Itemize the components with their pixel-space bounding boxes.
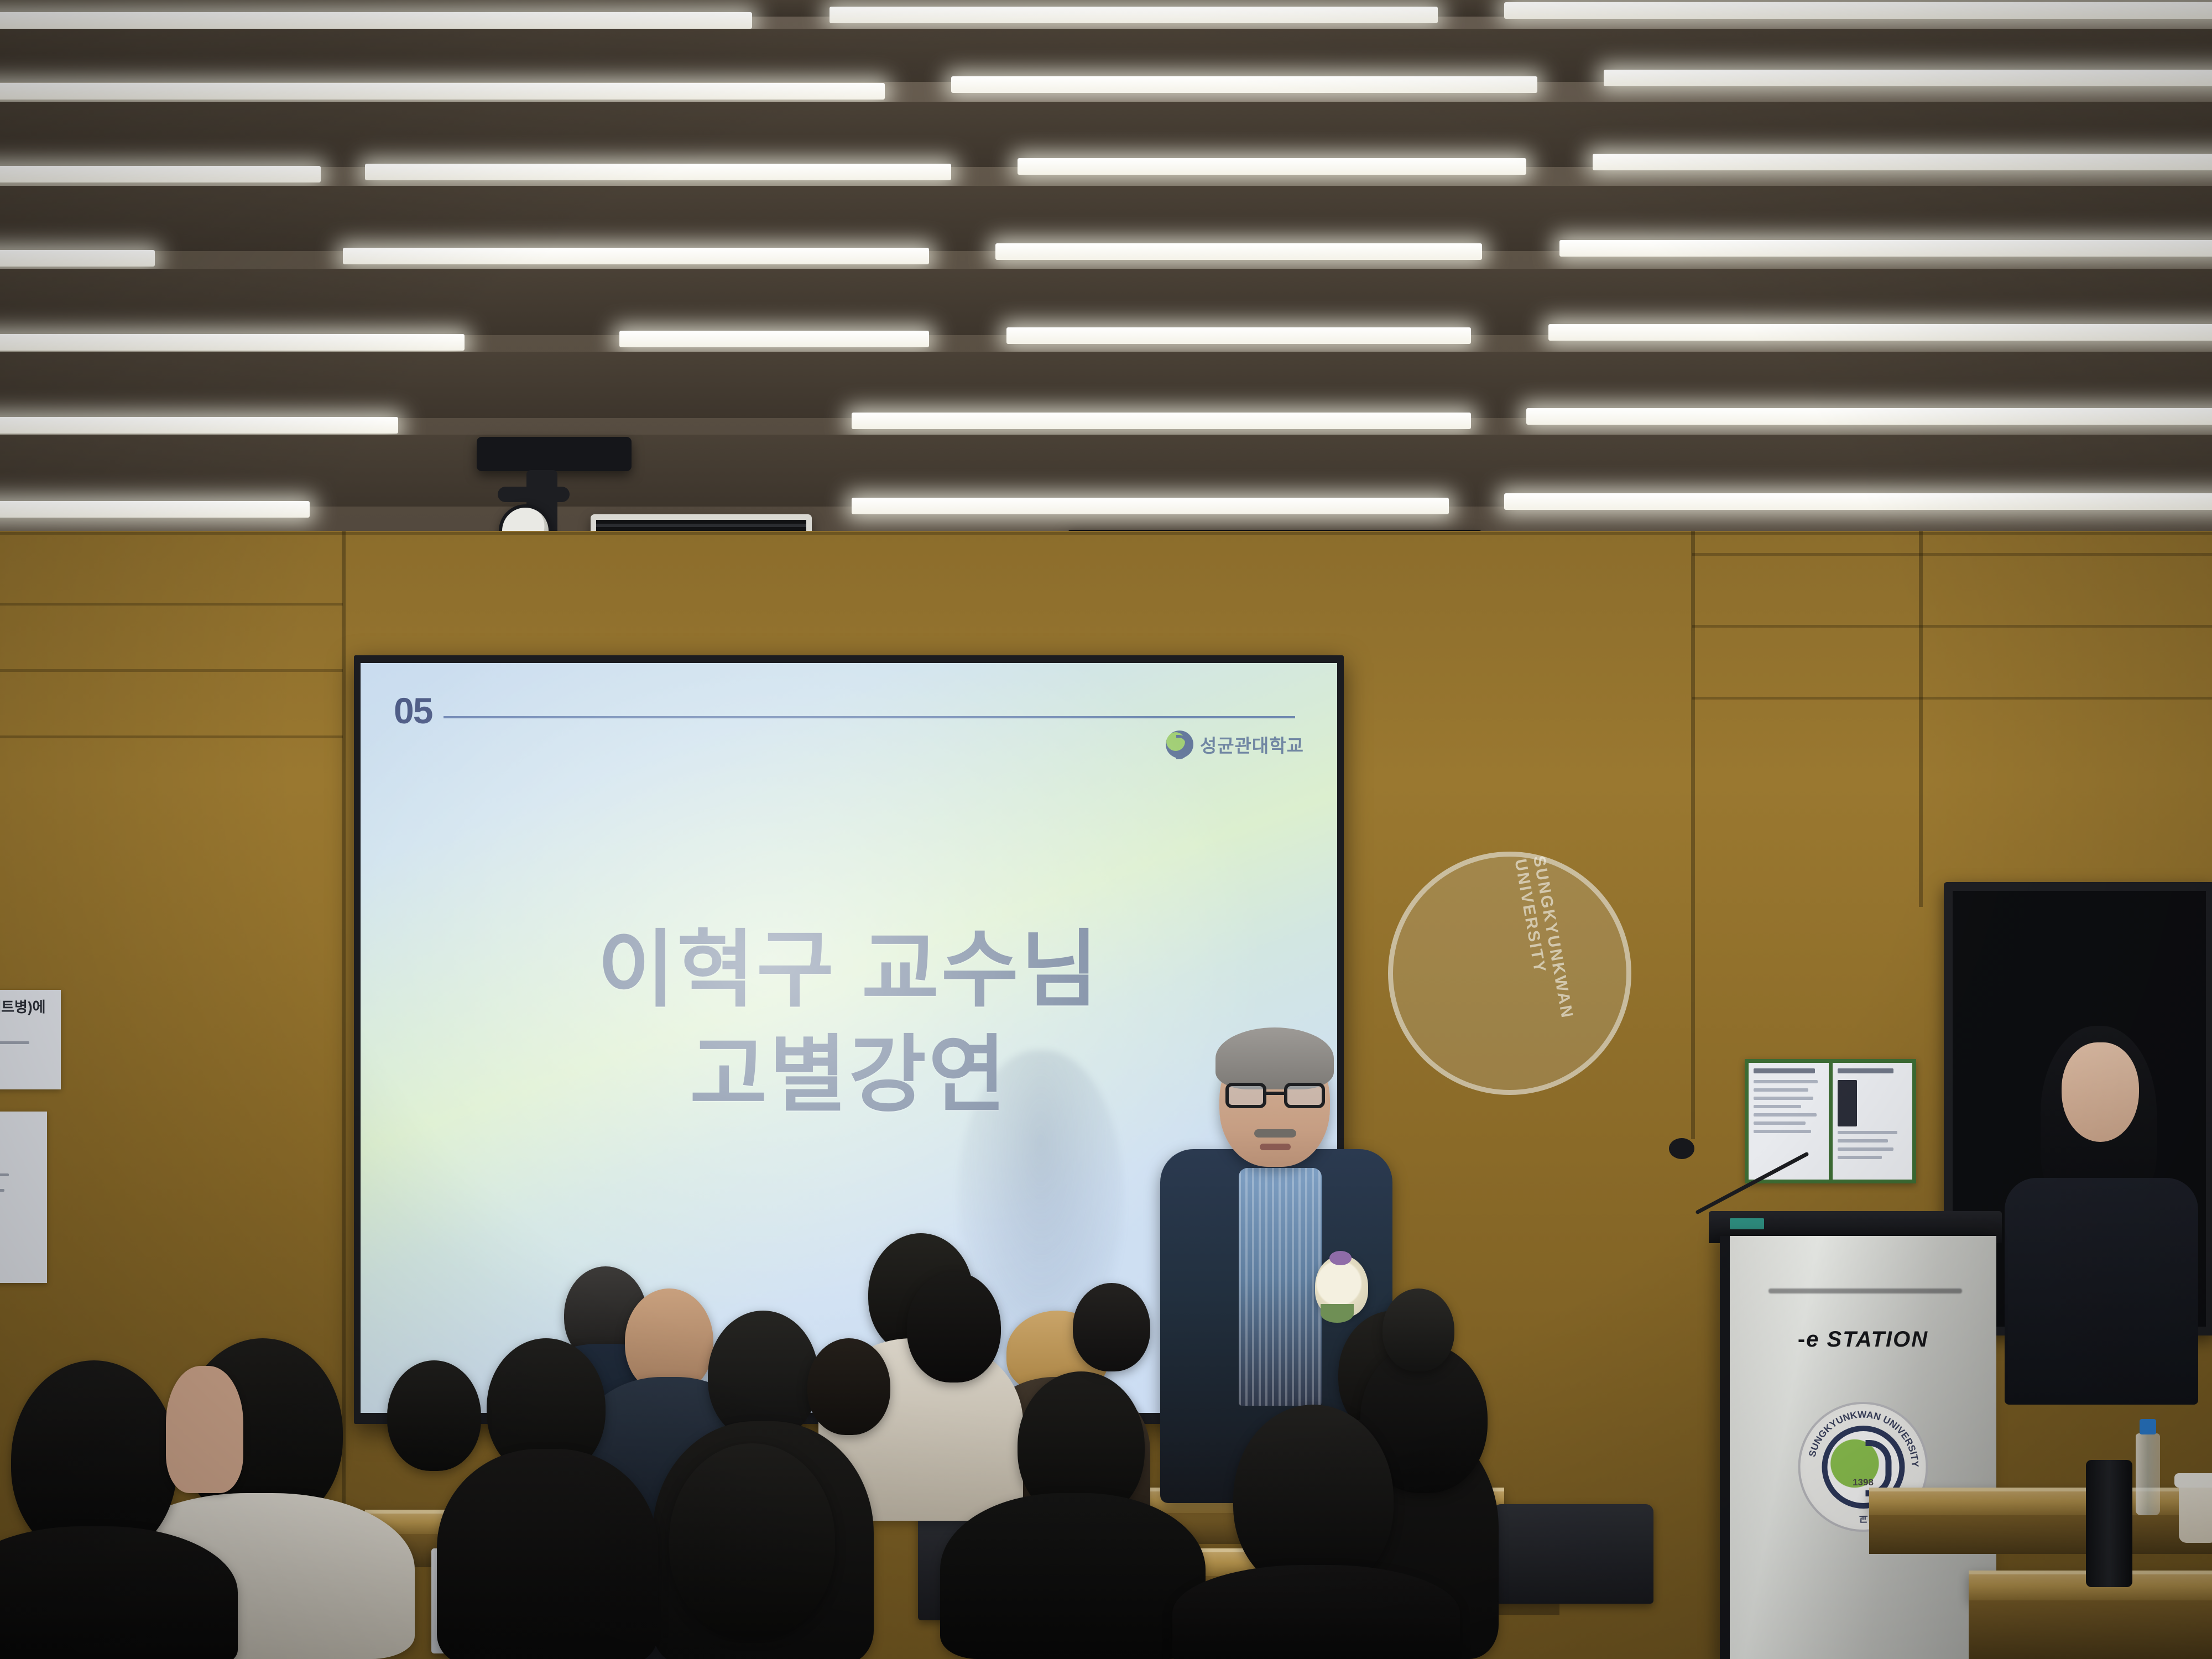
ceiling-light-strip: [0, 334, 465, 351]
notice-left-bottom-title: 강의실 안내: [0, 1125, 40, 1139]
lecture-hall-photo: SUNGKYUNKWAN UNIVERSITY 05 성균관대학교 이혁구 교수…: [0, 0, 2212, 1659]
slide-logo-label: 성균관대학교: [1200, 731, 1304, 758]
notice-left-top: 종이컵, 페트병)에 지합니다.: [0, 990, 61, 1089]
ceiling-light-strip: [1504, 2, 2212, 19]
ceiling-light-strip: [0, 250, 155, 267]
ceiling-light-strip: [1006, 327, 1471, 344]
ceiling-light-strip: [1593, 154, 2212, 170]
presenter-mouth: [1260, 1144, 1291, 1150]
lecture-desk-front: [1969, 1600, 2212, 1659]
audience-body: [940, 1493, 1206, 1659]
black-tumbler: [2086, 1460, 2132, 1587]
ceiling-light-strip: [951, 76, 1537, 93]
wall-university-seal: [1388, 852, 1631, 1095]
ceiling: [0, 0, 2212, 553]
poster-right-image: [1838, 1080, 1857, 1126]
ceiling-light-strip: [619, 331, 929, 347]
staff-face: [2062, 1042, 2139, 1142]
audience-body: [1172, 1565, 1460, 1659]
ceiling-light-strip: [1018, 158, 1526, 175]
audience-head: [1383, 1288, 1454, 1371]
sungkyunkwan-emblem-icon: [1166, 731, 1193, 758]
projector-mount-yoke: [498, 487, 570, 502]
audience-head: [1233, 1405, 1394, 1593]
slide-title: 이혁구 교수님 고별강연: [361, 923, 1337, 1122]
ceiling-light-strip: [0, 83, 885, 100]
lectern-podium[interactable]: -e STATION SUNGKYUNKWAN UNIVERSITY 성균관대학…: [1720, 1236, 1996, 1659]
audience-head: [807, 1338, 890, 1435]
ceiling-light-strip: [830, 7, 1438, 23]
podium-brand-e: e: [1806, 1327, 1819, 1352]
ceiling-light-strip: [852, 413, 1471, 429]
audience-raised-hand: [166, 1366, 243, 1493]
bottle-cap-blue: [2140, 1419, 2156, 1434]
presenter-hair: [1215, 1027, 1334, 1089]
ceiling-light-strip: [343, 248, 929, 264]
ceiling-light-strip: [995, 243, 1482, 260]
notice-left-bottom: 강의실 안내: [0, 1112, 47, 1283]
podium-brand-word: STATION: [1827, 1327, 1929, 1352]
ceiling-light-strip: [852, 498, 1449, 514]
ceiling-light-strip: [1604, 70, 2212, 86]
slide-title-line-1: 이혁구 교수님: [361, 923, 1337, 1017]
presenter-shirt: [1239, 1168, 1322, 1406]
audience-head: [907, 1272, 1001, 1383]
audience-head: [669, 1443, 835, 1637]
ceiling-light-strip: [1548, 324, 2212, 341]
presenter-moustache: [1254, 1129, 1296, 1138]
notice-left-top-line2: 지합니다.: [0, 1017, 54, 1036]
audience-body: [437, 1449, 658, 1659]
ceiling-light-strip: [1504, 493, 2212, 510]
slide-title-line-2: 고별강연: [361, 1028, 1337, 1122]
audience-head: [387, 1360, 481, 1471]
ceiling-light-strip: [365, 164, 951, 180]
iced-coffee-cup: [2179, 1482, 2212, 1543]
poster-right-title: [1838, 1068, 1893, 1073]
ceiling-projector: [477, 437, 632, 471]
slide-number: 05: [394, 690, 432, 732]
poster-left-title: [1754, 1068, 1815, 1073]
ceiling-light-strip: [0, 166, 321, 182]
slide-header-rule: [444, 716, 1295, 718]
poster-board: [1745, 1059, 1916, 1183]
slide-university-logo: 성균관대학교: [1166, 731, 1304, 758]
seal-founding-year: 1398: [1853, 1477, 1874, 1488]
poster-sheet-right: [1833, 1063, 1913, 1180]
lecture-desk-front: [1869, 1515, 2212, 1554]
ceiling-light-strip: [0, 501, 310, 518]
ceiling-light-strip: [1526, 408, 2212, 425]
lecture-desk-row: [1869, 1488, 2212, 1515]
cup-lid: [2174, 1473, 2212, 1488]
notice-left-top-line1: 종이컵, 페트병)에: [0, 998, 54, 1017]
auditorium-chair: [1493, 1504, 1653, 1604]
podium-brand: -e STATION: [1730, 1327, 1996, 1352]
ceiling-light-strip: [0, 417, 398, 434]
podium-label-tag: [1730, 1218, 1764, 1229]
microphone-head-icon: [1669, 1138, 1694, 1159]
ceiling-light-strip: [0, 12, 752, 29]
audience-head: [1073, 1283, 1150, 1371]
water-bottle: [2136, 1433, 2160, 1515]
podium-brand-dash: -: [1798, 1327, 1806, 1352]
ceiling-light-strip: [1559, 240, 2212, 257]
presenter-corsage-flower: [1315, 1255, 1368, 1317]
presenter-glasses-icon: [1225, 1083, 1325, 1108]
staff-person: [2005, 1178, 2198, 1405]
